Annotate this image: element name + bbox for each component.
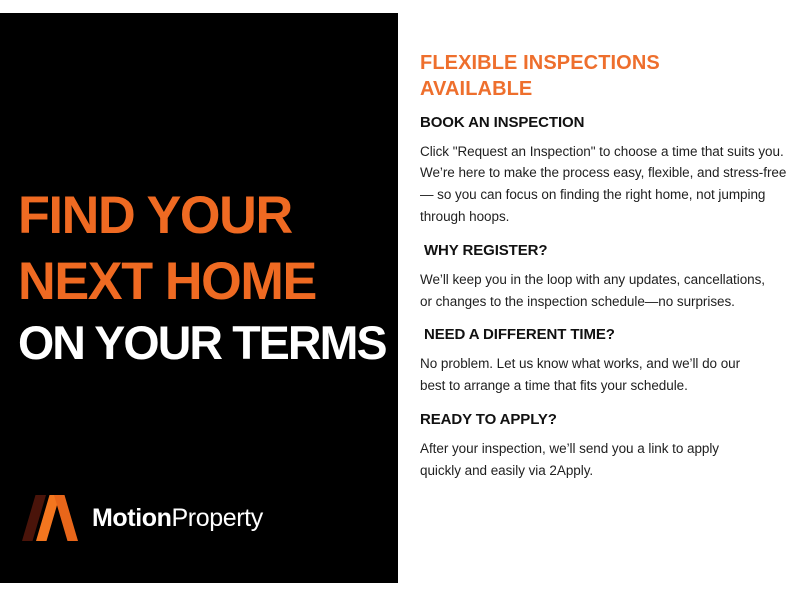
brand-wordmark-light: Property bbox=[172, 504, 263, 532]
section-ready-to-apply: READY TO APPLY? After your inspection, w… bbox=[420, 411, 792, 481]
section-why-register: WHY REGISTER? We’ll keep you in the loop… bbox=[420, 242, 792, 312]
motion-m-mark-icon bbox=[22, 495, 78, 541]
section-heading-ready-to-apply: READY TO APPLY? bbox=[420, 411, 792, 430]
brand-logo: MotionProperty bbox=[22, 495, 263, 541]
content-panel: FLEXIBLE INSPECTIONS AVAILABLE BOOK AN I… bbox=[420, 50, 792, 486]
section-heading-why-register: WHY REGISTER? bbox=[420, 242, 792, 261]
section-body-book-an-inspection: Click "Request an Inspection" to choose … bbox=[420, 141, 792, 228]
section-body-why-register: We’ll keep you in the loop with any upda… bbox=[420, 269, 778, 313]
section-need-a-different-time: NEED A DIFFERENT TIME? No problem. Let u… bbox=[420, 326, 792, 396]
hero-headline-line-3: ON YOUR TERMS bbox=[18, 320, 394, 365]
section-heading-book-an-inspection: BOOK AN INSPECTION bbox=[420, 114, 792, 133]
brand-wordmark: MotionProperty bbox=[92, 506, 263, 531]
section-book-an-inspection: BOOK AN INSPECTION Click "Request an Ins… bbox=[420, 114, 792, 228]
section-body-ready-to-apply: After your inspection, we’ll send you a … bbox=[420, 438, 750, 482]
poster-canvas: FIND YOUR NEXT HOME ON YOUR TERMS Motion… bbox=[0, 0, 800, 600]
hero-headline-line-2: NEXT HOME bbox=[18, 257, 392, 308]
brand-wordmark-bold: Motion bbox=[92, 504, 172, 532]
section-heading-need-a-different-time: NEED A DIFFERENT TIME? bbox=[420, 326, 792, 345]
hero-headline: FIND YOUR NEXT HOME ON YOUR TERMS bbox=[18, 191, 398, 365]
hero-headline-line-1: FIND YOUR bbox=[18, 191, 392, 242]
hero-panel: FIND YOUR NEXT HOME ON YOUR TERMS Motion… bbox=[0, 13, 398, 583]
content-title: FLEXIBLE INSPECTIONS AVAILABLE bbox=[420, 50, 680, 103]
section-body-need-a-different-time: No problem. Let us know what works, and … bbox=[420, 353, 750, 397]
